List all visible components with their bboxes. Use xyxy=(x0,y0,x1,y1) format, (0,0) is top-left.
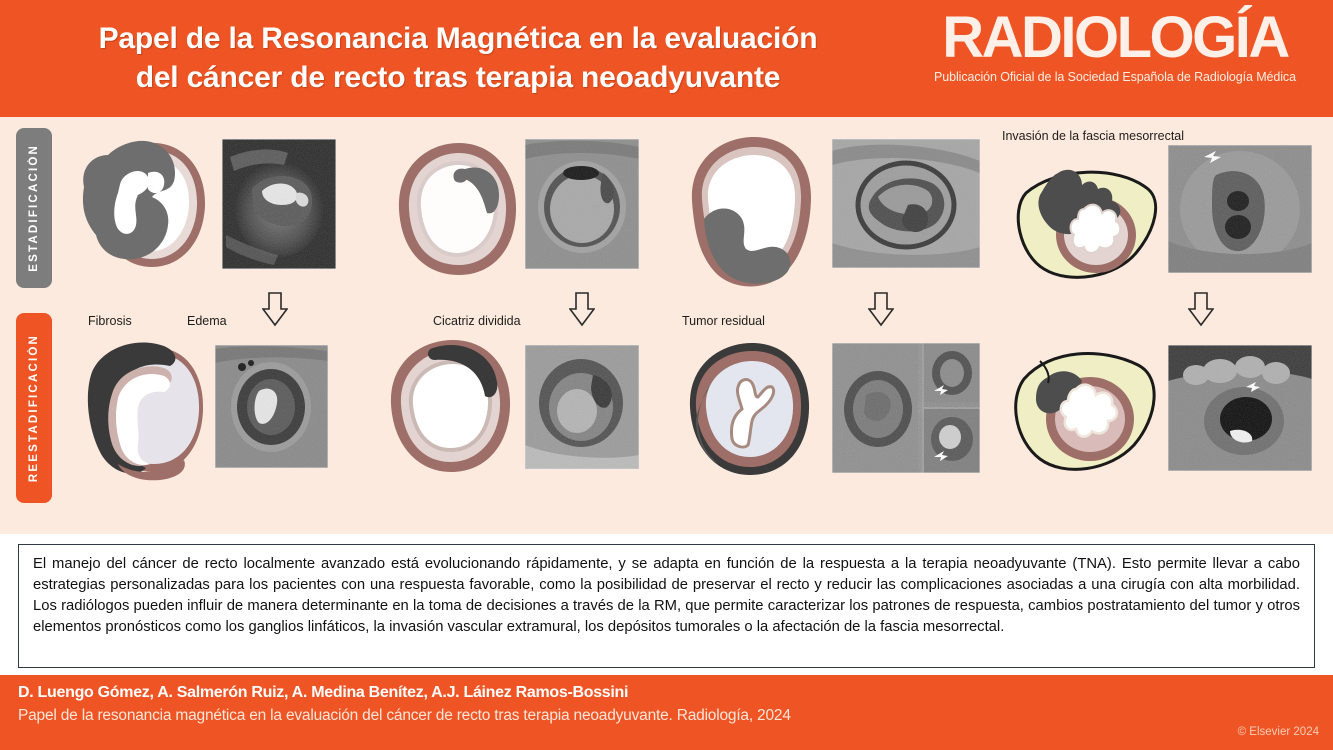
arrow-down-icon-col-3 xyxy=(868,291,894,327)
page-title: Papel de la Resonancia Magnética en la e… xyxy=(0,20,900,97)
footer-citation: Papel de la resonancia magnética en la e… xyxy=(18,707,791,725)
label-edema: Edema xyxy=(187,314,227,328)
stage-label-reestadificacion: REESTADIFICACIÓN xyxy=(16,313,52,503)
diagram-fascia-libre-restaging-4 xyxy=(998,339,1170,485)
column-respuesta-completa: Cicatriz dividida xyxy=(375,117,665,534)
diagram-fascia-invasion-staging-4 xyxy=(996,151,1166,291)
diagram-rectum-restaging-1 xyxy=(78,332,222,484)
stage-label-reestadificacion-text: REESTADIFICACIÓN xyxy=(28,334,40,482)
diagram-rectum-restaging-3 xyxy=(674,335,826,483)
mri-image-restaging-4 xyxy=(1168,345,1312,471)
mri-image-restaging-3 xyxy=(832,343,980,473)
arrow-down-icon-col-2 xyxy=(569,291,595,327)
label-invasion-fascia-mesorrectal: Invasión de la fascia mesorrectal xyxy=(1002,129,1184,143)
footer: D. Luengo Gómez, A. Salmerón Ruiz, A. Me… xyxy=(0,675,1333,750)
column-cambios-postratamiento: Fibrosis Edema xyxy=(70,117,360,534)
figure-panel: ESTADIFICACIÓN REESTADIFICACIÓN xyxy=(0,117,1333,534)
stage-label-estadificacion: ESTADIFICACIÓN xyxy=(16,128,52,288)
footer-copyright: © Elsevier 2024 xyxy=(1238,726,1319,738)
journal-subtitle: Publicación Oficial de la Sociedad Españ… xyxy=(905,70,1325,84)
page-title-line-1: Papel de la Resonancia Magnética en la e… xyxy=(16,20,900,58)
diagram-rectum-tumor-staging-2 xyxy=(383,133,533,285)
abstract-box: El manejo del cáncer de recto localmente… xyxy=(18,544,1315,668)
diagram-rectum-restaging-2 xyxy=(377,332,527,480)
journal-name: RADIOLOGÍA xyxy=(905,10,1325,65)
arrow-down-icon-col-1 xyxy=(262,291,288,327)
diagram-rectum-tumor-staging-1 xyxy=(74,125,224,285)
mri-image-restaging-2 xyxy=(525,345,639,469)
header: Papel de la Resonancia Magnética en la e… xyxy=(0,0,1333,117)
mri-image-staging-1 xyxy=(222,139,336,269)
diagram-rectum-tumor-staging-3 xyxy=(678,127,828,292)
footer-authors: D. Luengo Gómez, A. Salmerón Ruiz, A. Me… xyxy=(18,684,628,702)
label-fibrosis: Fibrosis xyxy=(88,314,132,328)
mri-image-staging-2 xyxy=(525,139,639,269)
column-respuesta-casi-completa: Tumor residual xyxy=(670,117,980,534)
stage-label-estadificacion-text: ESTADIFICACIÓN xyxy=(28,144,40,272)
mri-image-restaging-1 xyxy=(215,345,328,468)
arrow-down-icon-col-4 xyxy=(1188,291,1214,327)
abstract-text: El manejo del cáncer de recto localmente… xyxy=(33,554,1300,638)
journal-brand: RADIOLOGÍA Publicación Oficial de la Soc… xyxy=(905,10,1325,84)
column-fascia-mesorrectal-libre: Invasión de la fascia mesorrectal xyxy=(990,117,1325,534)
label-tumor-residual: Tumor residual xyxy=(682,314,765,328)
mri-image-staging-3 xyxy=(832,139,980,268)
label-cicatriz-dividida: Cicatriz dividida xyxy=(433,314,521,328)
infographic-root: Papel de la Resonancia Magnética en la e… xyxy=(0,0,1333,750)
page-title-line-2: del cáncer de recto tras terapia neoadyu… xyxy=(16,59,900,97)
mri-image-staging-4 xyxy=(1168,145,1312,273)
